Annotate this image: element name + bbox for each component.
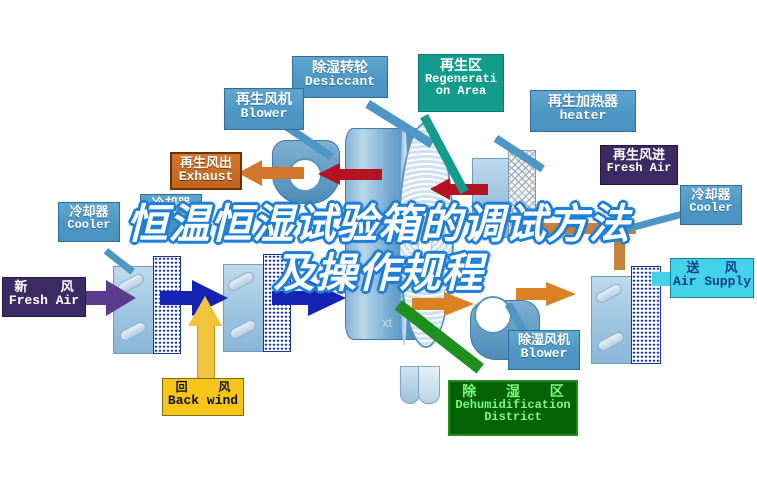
label-desiccant[interactable]: 除湿转轮 Desiccant: [292, 56, 388, 98]
label-back-wind-en: Back wind: [163, 394, 243, 408]
label-air-supply-cn-left: 送: [686, 260, 699, 275]
label-cooler-middle-cn: 冷却器: [141, 197, 201, 211]
label-regeneration-blower-cn: 再生风机: [225, 92, 303, 107]
arrow-air-stage-2: [272, 280, 346, 316]
label-fresh-air-en: Fresh Air: [3, 294, 85, 308]
arrow-exhaust-out: [238, 160, 300, 186]
label-back-wind[interactable]: 回 风 Back wind: [162, 378, 244, 416]
label-dehumidification-blower-cn: 除湿风机: [509, 333, 579, 347]
label-desiccant-en: Desiccant: [293, 75, 387, 89]
label-fresh-air-cn-right: 风: [61, 279, 74, 294]
arrow-back-wind-up: [188, 296, 222, 378]
label-cooler-left-en: Cooler: [59, 219, 119, 232]
label-fresh-air-cn: 新 风: [3, 280, 85, 294]
label-regeneration-area-cn: 再生区: [419, 58, 503, 73]
label-cooler-middle-en: Cooler: [141, 211, 201, 224]
label-regeneration-blower-en: Blower: [225, 107, 303, 121]
label-fresh-air-cn-left: 新: [14, 279, 27, 294]
desiccant-wheel-hub: [417, 206, 433, 262]
label-regeneration-heater[interactable]: 再生加热器 heater: [530, 90, 636, 132]
label-cooler-middle[interactable]: 冷却器 Cooler: [140, 194, 202, 234]
label-air-supply[interactable]: 送 风 Air Supply: [670, 258, 754, 298]
dehumidification-blower-inlet: [474, 296, 512, 334]
label-air-supply-cn-right: 风: [725, 260, 738, 275]
label-regeneration-fresh-air-cn: 再生风进: [601, 148, 677, 162]
label-cooler-right-en: Cooler: [681, 202, 741, 215]
label-dehum-cn-2: 湿: [506, 383, 520, 399]
label-dehumidification-district[interactable]: 除 湿 区 Dehumidification District: [448, 380, 578, 436]
label-desiccant-cn: 除湿转轮: [293, 60, 387, 75]
label-exhaust[interactable]: 再生风出 Exhaust: [170, 152, 242, 190]
arrow-regen-hot-left: [318, 163, 380, 185]
arrow-dehum-1: [412, 292, 474, 316]
dehumidifier-diagram: xt: [0, 0, 757, 488]
label-air-supply-cn: 送 风: [671, 261, 753, 275]
label-dehum-cn-1: 除: [462, 383, 476, 399]
label-dehum-en2: District: [450, 411, 576, 424]
wheel-support-foot: [400, 366, 444, 402]
label-air-supply-en: Air Supply: [671, 275, 753, 289]
label-regeneration-fresh-air[interactable]: 再生风进 Fresh Air: [600, 145, 678, 185]
label-cooler-right[interactable]: 冷却器 Cooler: [680, 185, 742, 225]
arrow-dehum-2: [516, 282, 576, 306]
label-back-wind-cn: 回 风: [163, 381, 243, 394]
label-dehumidification-district-cn: 除 湿 区: [450, 384, 576, 399]
label-regeneration-heater-cn: 再生加热器: [531, 94, 635, 109]
label-cooler-right-cn: 冷却器: [681, 188, 741, 202]
label-regeneration-area-en2: on Area: [419, 85, 503, 98]
label-regeneration-blower[interactable]: 再生风机 Blower: [224, 88, 304, 130]
watermark: xt: [382, 315, 392, 330]
label-exhaust-en: Exhaust: [172, 170, 240, 184]
label-dehum-cn-3: 区: [550, 383, 564, 399]
label-cooler-left-cn: 冷却器: [59, 205, 119, 219]
label-back-wind-cn-left: 回: [176, 380, 188, 394]
label-cooler-left[interactable]: 冷却器 Cooler: [58, 202, 120, 242]
label-regeneration-area[interactable]: 再生区 Regenerati on Area: [418, 54, 504, 112]
label-regeneration-fresh-air-en: Fresh Air: [601, 162, 677, 175]
label-fresh-air[interactable]: 新 风 Fresh Air: [2, 277, 86, 317]
label-dehumidification-blower[interactable]: 除湿风机 Blower: [508, 330, 580, 370]
label-back-wind-cn-right: 风: [218, 380, 230, 394]
arrow-fresh-air-in: [78, 280, 136, 316]
label-regeneration-heater-en: heater: [531, 109, 635, 123]
label-dehumidification-blower-en: Blower: [509, 347, 579, 361]
label-exhaust-cn: 再生风出: [172, 156, 240, 170]
